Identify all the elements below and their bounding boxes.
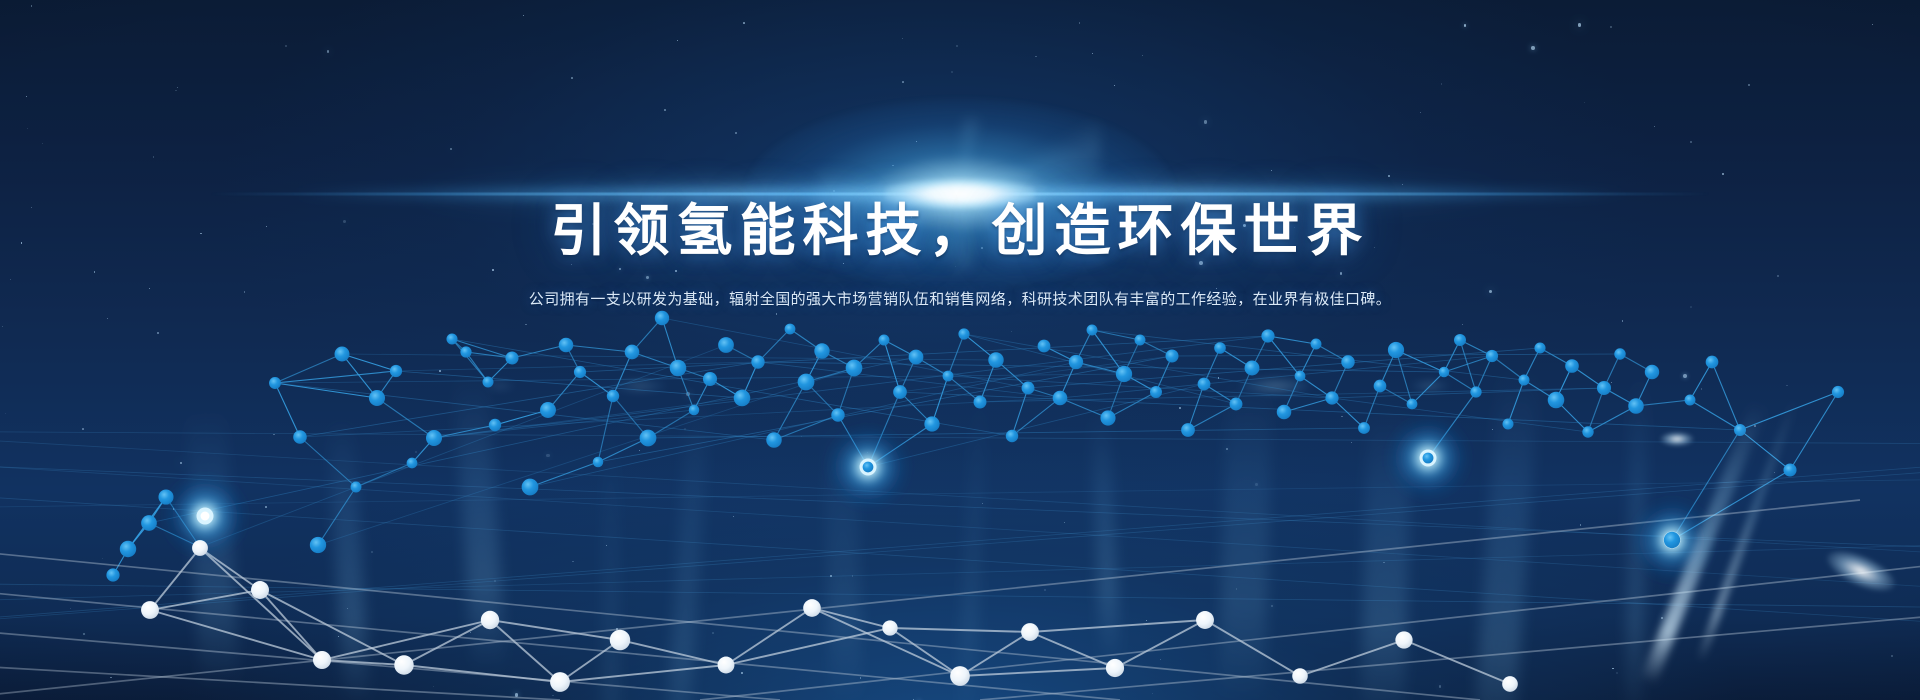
mesh-edge [1604,354,1620,388]
mesh-node [1597,381,1611,395]
mesh-node [625,345,640,360]
star-speck [1580,524,1582,526]
mesh-edge [742,362,758,398]
mesh-edge [900,357,916,392]
mesh-lines-white [0,500,1920,700]
mesh-edge [916,357,948,376]
star-speck [830,575,832,577]
mesh-node [489,419,501,431]
mesh-edge-long [900,356,1172,392]
mesh-edge-foreground-long [0,548,1480,700]
star-speck [776,313,778,315]
mesh-nodes-blue [106,311,1844,582]
mesh-edge-long [1092,330,1524,380]
mesh-edge-foreground [200,548,260,590]
mesh-node-foreground [141,601,159,619]
light-beam [327,416,371,700]
mesh-edge-foreground [200,548,322,660]
star-speck [1872,24,1873,25]
mesh-edge-long [1060,356,1492,398]
mesh-node [1645,365,1659,379]
mesh-edge-long [580,336,1268,372]
lens-flare-ghost [485,381,515,391]
star-speck [833,190,835,192]
mesh-edge-foreground [150,610,322,660]
mesh-edge-foreground [1030,632,1115,668]
mesh-edge-foreground [560,665,726,682]
mesh-node [574,366,586,378]
mesh-edge-foreground [260,590,404,665]
star-speck [902,81,904,83]
mesh-node [689,405,699,415]
mesh-node-glow-center [1668,536,1677,545]
light-beam [823,416,863,700]
mesh-edge-long [758,362,1444,372]
star-speck [712,632,714,634]
mesh-edge [806,368,854,382]
star-speck [1152,693,1153,694]
mesh-edge [774,382,806,440]
mesh-edge-long [200,345,726,547]
mesh-horizon-line [0,463,1920,622]
mesh-node-glow-core [1664,532,1681,549]
mesh-edge [694,379,710,410]
mesh-horizon-line [0,468,1920,623]
mesh-edge-long [900,392,1740,430]
lens-flare-ghost [1240,377,1310,395]
mesh-node [1470,386,1481,397]
mesh-node [1135,335,1146,346]
mesh-edge [1444,340,1460,372]
mesh-edge [964,334,996,360]
mesh-edge [342,354,377,398]
mesh-horizon-line [0,584,1920,608]
mesh-edge-long [964,334,1332,398]
mesh-edge-foreground-long [700,560,1920,700]
mesh-node [522,479,539,496]
star-speck [162,501,164,503]
star-speck [1654,126,1655,127]
mesh-edge-long [964,334,1236,404]
star-speck [1701,388,1703,390]
mesh-node [1519,375,1530,386]
mesh-node [1832,386,1844,398]
mesh-edge-long [1172,354,1620,356]
mesh-edge [1588,388,1604,432]
star-speck [1142,55,1143,56]
mesh-edge-foreground [1404,640,1510,684]
mesh-edge [900,392,932,424]
mesh-edge [1508,380,1524,424]
star-speck [902,38,904,40]
mesh-edge [1690,400,1740,430]
mesh-edge [1476,356,1492,392]
mesh-node-foreground [394,655,413,674]
mesh-node-foreground [550,672,570,692]
star-speck [616,628,618,630]
mesh-edge-foreground [1030,620,1205,632]
mesh-edge [149,523,200,547]
star-speck [439,370,441,372]
star-speck [327,50,330,53]
page-subtitle: 公司拥有一支以研发为基础，辐射全国的强大市场营销队伍和销售网络，科研技术团队有丰… [0,288,1920,312]
mesh-edge-foreground-long [980,612,1920,700]
mesh-node [893,385,907,399]
star-speck [1114,85,1115,86]
mesh-node [1311,339,1322,350]
mesh-node [1407,399,1418,410]
star-speck [867,452,868,453]
mesh-edge-long [662,318,1028,388]
star-speck [265,506,267,508]
mesh-edge-foreground [620,640,726,665]
mesh-edge [113,549,128,575]
mesh-node-glow-halo [1382,412,1474,504]
star-speck [1441,83,1443,85]
mesh-node [640,430,657,447]
mesh-edge [1672,430,1740,540]
mesh-edge [1092,330,1140,340]
mesh-node [1388,342,1404,358]
mesh-node [1022,382,1035,395]
mesh-edge-long [530,362,1076,487]
mesh-edge [275,354,342,383]
mesh-edge [1588,406,1636,432]
mesh-edge [377,371,396,398]
mesh-edge-foreground [490,620,620,640]
mesh-node-glow-center [201,512,210,521]
mesh-edge [1300,376,1332,398]
mesh-node-foreground [1106,659,1124,677]
mesh-edge-long [434,410,694,438]
mesh-edge [1076,330,1092,362]
star-speck [684,428,686,430]
mesh-node [655,311,669,325]
mesh-edge [1412,372,1444,404]
mesh-edge [678,368,694,410]
star-speck [347,608,348,609]
mesh-edge [412,438,434,463]
network-mesh [0,0,1920,700]
star-speck [1146,620,1147,621]
mesh-edge-long [648,428,1364,438]
mesh-node [1423,453,1434,464]
mesh-edge-foreground [960,632,1030,676]
mesh-edge [1284,398,1332,412]
mesh-node [751,355,764,368]
mesh-edge [1790,392,1838,470]
mesh-edge-long [396,371,742,398]
star-speck [1462,324,1463,325]
light-beam [1090,409,1121,667]
mesh-edge [980,360,996,402]
mesh-node [407,458,418,469]
mesh-edge [452,339,466,352]
mesh-edge [948,334,964,376]
mesh-edge-foreground [726,608,812,665]
mesh-horizon-line [0,464,1920,549]
mesh-edge-long [452,339,1012,436]
mesh-node-foreground [950,666,970,686]
mesh-edge [1556,366,1572,400]
mesh-nodes-white [141,540,1518,692]
mesh-edge [1060,398,1108,418]
mesh-node-foreground [610,630,630,650]
mesh-node-glow-center [864,463,873,472]
light-beam [1625,370,1648,700]
star-speck [1064,522,1066,524]
mesh-node [1150,386,1162,398]
mesh-node [593,457,604,468]
mesh-edge [996,360,1028,388]
mesh-node [974,396,987,409]
mesh-edge-long [434,336,1268,438]
mesh-node [1181,423,1195,437]
mesh-edge [613,352,632,396]
mesh-node [1325,391,1338,404]
mesh-edge-foreground [490,620,560,682]
mesh-edge [1188,404,1236,430]
mesh-node [310,537,326,553]
mesh-edge [275,383,377,398]
mesh-edge [1428,392,1476,458]
mesh-node [1628,398,1644,414]
star-speck [1584,102,1585,103]
star-speck [951,71,953,73]
light-beam [956,392,989,700]
mesh-node-glow-halo [1626,494,1718,586]
light-beam-secondary [1696,397,1798,663]
mesh-edge [838,415,868,467]
mesh-edge [512,345,566,358]
mesh-edge [318,487,356,545]
mesh-edge-foreground [890,628,1030,632]
mesh-node [446,333,457,344]
mesh-edge-long [434,398,742,438]
mesh-edge [128,523,149,549]
mesh-edge [1740,392,1838,430]
mesh-edge [434,425,495,438]
mesh-edge [1220,348,1252,368]
mesh-edge [1444,372,1476,392]
mesh-node [1548,392,1565,409]
star-speck [1092,53,1093,54]
mesh-node-glow-halo [822,421,914,513]
mesh-edge [1380,386,1412,404]
star-speck [1218,377,1220,379]
mesh-edge [1524,348,1540,380]
mesh-node [1245,361,1260,376]
mesh-edge [710,379,742,398]
mesh-edge [300,437,356,487]
mesh-edge-foreground-long [0,500,1860,700]
mesh-node [1664,532,1680,548]
mesh-node [863,462,874,473]
mesh-edge-foreground [1205,620,1300,676]
star-speck [1690,141,1692,143]
mesh-edge-foreground-long [0,628,780,700]
mesh-node [1358,422,1370,434]
mesh-node [1230,398,1243,411]
mesh-node [1582,426,1593,437]
mesh-edge [662,318,678,368]
mesh-node [293,430,307,444]
mesh-edge [166,497,200,547]
mesh-edge [1204,348,1220,384]
mesh-edge-foreground [960,668,1115,676]
mesh-edge [1524,380,1556,400]
mesh-lines-blue [0,318,1920,625]
mesh-edge [1236,368,1252,404]
light-beam [1471,365,1540,700]
mesh-node [120,541,136,557]
mesh-edge [1156,356,1172,392]
mesh-node-foreground [882,620,897,635]
star-speck [1492,429,1493,430]
star-speck [686,392,690,396]
mesh-node [766,432,781,447]
star-speck [1612,668,1614,670]
mesh-node [559,338,574,353]
star-speck [1179,407,1181,409]
mesh-edge [884,340,916,357]
mesh-node [335,347,350,362]
mesh-horizon-line [0,438,1920,556]
light-beam [1218,374,1273,700]
mesh-edge [1556,400,1588,432]
mesh-edge [149,497,166,523]
star-speck [415,451,417,453]
star-speck [175,90,176,91]
star-speck [341,348,342,349]
mesh-node [1261,329,1274,342]
mesh-horizon-line [0,479,1920,508]
mesh-edge [1060,362,1076,398]
mesh-edge-long [300,398,1060,437]
mesh-edge [1188,384,1204,430]
star-speck [1786,385,1788,387]
mesh-node [1454,334,1466,346]
mesh-edge [1740,430,1790,470]
mesh-edge [1460,340,1476,392]
mesh-node [1100,410,1115,425]
mesh-edge [1396,350,1444,372]
mesh-node [943,371,954,382]
mesh-edge [1620,354,1652,372]
star-speck [664,109,666,111]
mesh-edge-long [149,357,916,523]
star-speck [110,677,112,679]
star-speck [515,693,518,696]
mesh-edge [806,351,822,382]
mesh-node [351,482,362,493]
star-speck [743,22,745,24]
mesh-node [958,328,969,339]
vignette-overlay [0,0,1920,700]
mesh-edge-long [598,356,1172,462]
star-speck [1079,22,1081,24]
mesh-edge [452,339,488,382]
light-beam [185,406,240,689]
mesh-edge [488,358,512,382]
mesh-node [1502,418,1513,429]
star-speck [1271,605,1273,607]
mesh-node [1783,463,1796,476]
mesh-node [1614,348,1625,359]
star-speck [27,128,28,129]
mesh-edge [1332,398,1364,428]
star-speck [2,326,3,327]
mesh-edge-long [1332,388,1604,398]
mesh-edge [854,340,884,368]
star-speck [1610,26,1612,28]
star-speck [1774,472,1775,473]
star-speck [1204,120,1208,124]
mesh-edge-foreground [812,608,890,628]
mesh-horizon-line [0,463,1920,590]
mesh-node [879,335,890,346]
star-speck [1011,331,1012,332]
mesh-edge [566,345,580,372]
mesh-node [141,515,157,531]
mesh-edge [275,383,300,437]
star-speck [157,332,159,334]
mesh-node-foreground [1502,676,1518,692]
star-speck [916,141,918,143]
lens-flare-ghost [614,379,666,393]
mesh-edge-foreground [726,628,890,665]
star-speck [1035,56,1037,58]
mesh-node [1534,342,1545,353]
mesh-edge-long [342,354,996,360]
mesh-node-foreground [313,651,331,669]
mesh-edge-foreground-long [0,664,560,700]
mesh-node [1341,355,1354,368]
star-speck [1754,425,1756,427]
beam-glint [1821,542,1901,600]
mesh-edge [1364,386,1380,428]
mesh-node [1069,355,1083,369]
mesh-edge [598,396,613,462]
star-speck [801,436,802,437]
star-speck [273,434,275,436]
star-speck [31,5,33,7]
mesh-node [1439,367,1450,378]
star-speck [523,15,524,16]
mesh-edge [580,372,613,396]
mesh-node [798,374,815,391]
star-speck [1748,84,1750,86]
mesh-node [785,324,796,335]
mesh-edge [613,396,648,438]
mesh-node-foreground [251,581,269,599]
star-speck [1616,672,1618,674]
hero-banner: 引领氢能科技，创造环保世界 公司拥有一支以研发为基础，辐射全国的强大市场营销队伍… [0,0,1920,700]
mesh-horizon-line [0,432,1920,444]
mesh-edge [678,368,710,379]
mesh-node [460,346,471,357]
mesh-node [1006,430,1018,442]
mesh-node-glow-halo [159,470,251,562]
mesh-edge [1332,362,1348,398]
mesh-node [924,416,939,431]
mesh-node [540,402,556,418]
mesh-node [703,372,717,386]
star-speck [552,695,554,697]
star-speck [1439,685,1441,687]
star-speck [470,632,471,633]
mesh-edge-long [948,376,1332,398]
